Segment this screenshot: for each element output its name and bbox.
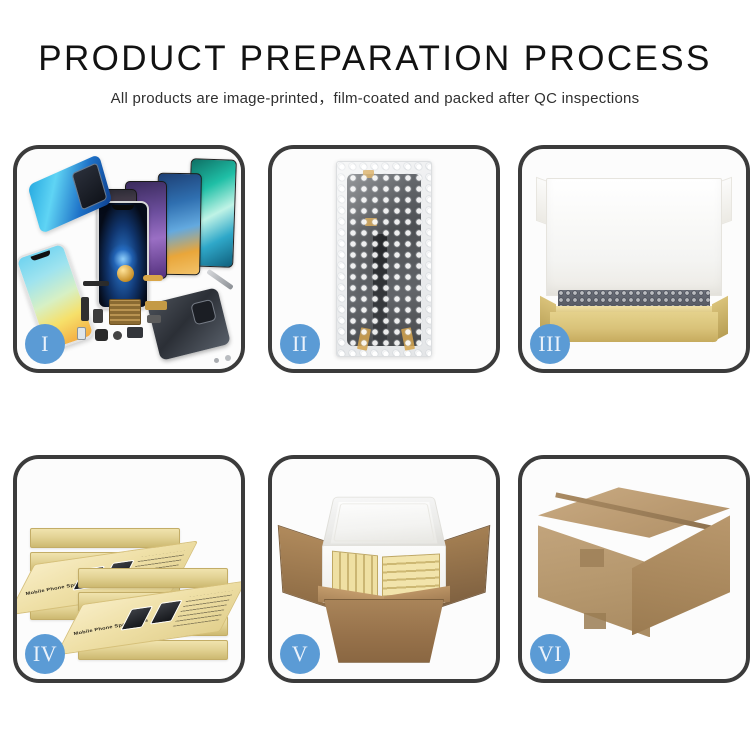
process-step-panel-6: VI: [518, 455, 750, 683]
process-step-panel-5: V: [268, 455, 500, 683]
step-badge-3: III: [530, 324, 570, 364]
carton-front-panel: [324, 599, 444, 663]
speaker-icon: [127, 327, 143, 338]
foam-lid-icon: [321, 496, 447, 551]
carton-tape-patch: [584, 613, 606, 629]
process-step-panel-1: I: [13, 145, 245, 373]
screw-icon: [214, 358, 219, 363]
phone-back-cover-icon: [147, 287, 231, 361]
open-mailer-box-icon: [536, 174, 732, 352]
process-step-panel-4: Mobile Phone Spare Parts Mobile Phone Sp…: [13, 455, 245, 683]
process-step-panel-2: II: [268, 145, 500, 373]
button-icon: [113, 331, 122, 340]
step-badge-2: II: [280, 324, 320, 364]
page-subtitle: All products are image-printed，film-coat…: [0, 89, 750, 109]
tweezers-icon: [206, 269, 233, 290]
sim-tray-icon: [77, 327, 86, 340]
chip-grid-icon: [109, 299, 141, 325]
box-spec-text-lines: [173, 591, 234, 627]
camera-module-icon: [95, 329, 108, 341]
process-steps-grid: I II: [13, 145, 745, 675]
sealed-shipping-carton-icon: [536, 487, 732, 659]
product-preparation-process-page: PRODUCT PREPARATION PROCESS All products…: [0, 0, 750, 750]
gold-flex-icon: [145, 301, 167, 310]
phone-black-front-icon: [97, 201, 149, 309]
box-front-panel: [550, 312, 718, 342]
process-step-panel-3: III: [518, 145, 750, 373]
gold-component-icon: [117, 265, 134, 282]
page-title: PRODUCT PREPARATION PROCESS: [0, 38, 750, 80]
step-badge-6: VI: [530, 634, 570, 674]
screw-icon: [225, 355, 231, 361]
plastic-sheen-overlay: [337, 162, 431, 356]
page-header: PRODUCT PREPARATION PROCESS All products…: [0, 38, 750, 109]
flex-cable-icon: [143, 275, 163, 281]
ribbon-cable-icon: [81, 297, 89, 321]
step-badge-5: V: [280, 634, 320, 674]
carton-tape-patch: [580, 549, 604, 567]
box-product-photo-icon: [120, 606, 153, 631]
step-badge-4: IV: [25, 634, 65, 674]
step-badge-1: I: [25, 324, 65, 364]
module-icon: [147, 315, 161, 323]
small-connector-icon: [93, 309, 103, 323]
box-inner-back-wall: [546, 178, 722, 296]
flex-strip-icon: [83, 281, 109, 286]
bubble-wrap-bag-icon: [336, 161, 432, 357]
